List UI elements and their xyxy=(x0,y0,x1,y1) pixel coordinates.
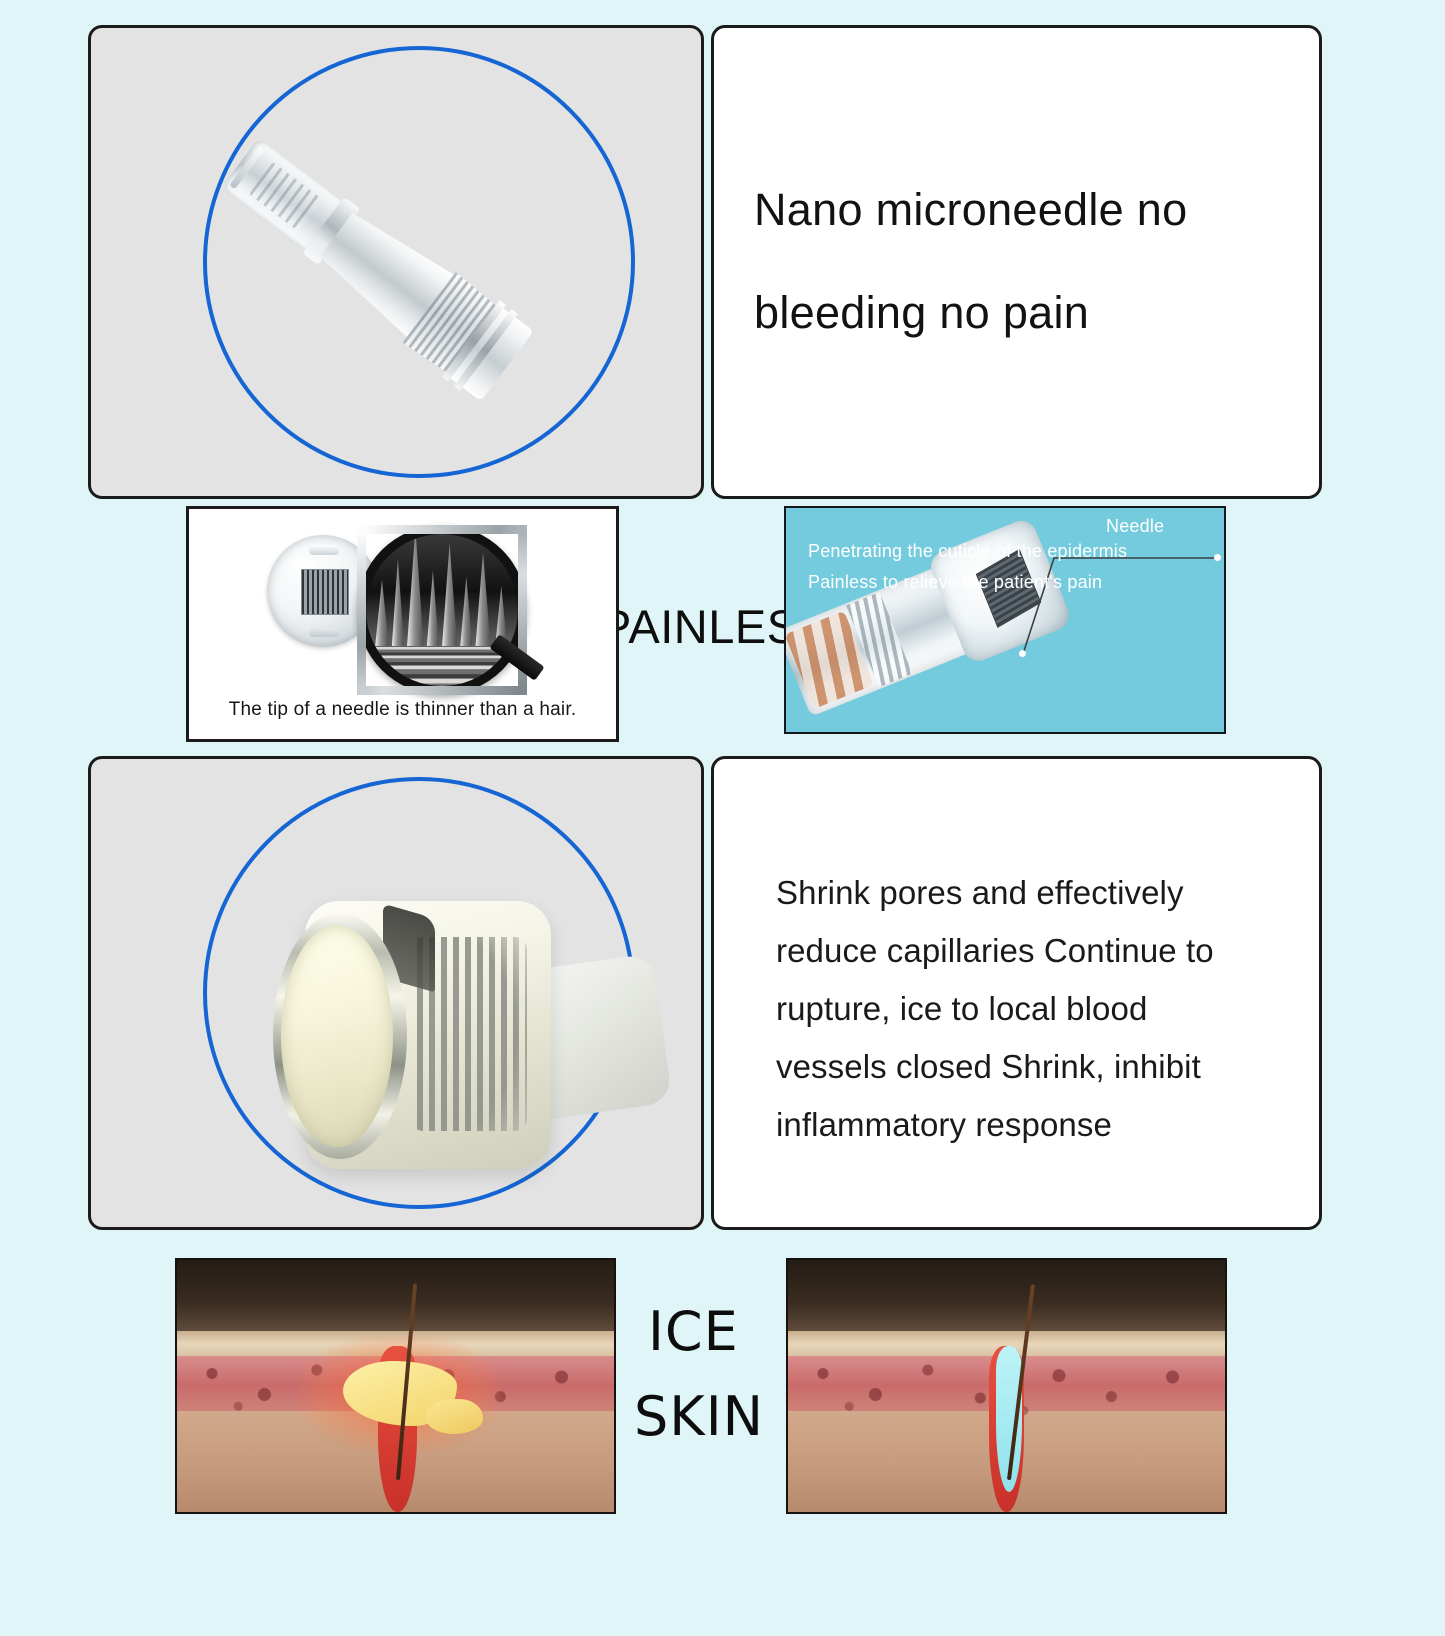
penetration-line-two: Painless to relieve the patient's pain xyxy=(808,572,1102,593)
microneedle-pen-illustration xyxy=(91,28,701,496)
leader-endpoint-needle xyxy=(1019,650,1026,657)
headline-text: Nano microneedle no bleeding no pain xyxy=(754,158,1284,364)
overlay-word-skin: SKIN xyxy=(634,1390,764,1444)
overlay-word-ice: ICE xyxy=(648,1305,739,1359)
skin-before-image xyxy=(175,1258,616,1514)
cooling-head-photo-panel xyxy=(88,756,704,1230)
microneedle-device-photo-panel xyxy=(88,25,704,499)
needle-callout-label: Needle xyxy=(1106,516,1164,537)
leader-endpoint-right xyxy=(1214,554,1221,561)
penetration-line-one: Penetrating the cuticle of the epidermis xyxy=(808,541,1127,562)
magnifier-icon xyxy=(357,525,527,695)
cooling-head-illustration xyxy=(261,891,621,1191)
benefits-text: Shrink pores and effectively reduce capi… xyxy=(776,864,1276,1154)
needle-penetration-card: Needle Penetrating the cuticle of the ep… xyxy=(784,506,1226,734)
needle-tip-caption: The tip of a needle is thinner than a ha… xyxy=(189,699,616,721)
needle-tip-card: The tip of a needle is thinner than a ha… xyxy=(186,506,619,742)
infographic-page: Nano microneedle no bleeding no pain PAI… xyxy=(0,0,1445,1636)
benefits-card: Shrink pores and effectively reduce capi… xyxy=(711,756,1322,1230)
skin-after-image xyxy=(786,1258,1227,1514)
headline-card: Nano microneedle no bleeding no pain xyxy=(711,25,1322,499)
